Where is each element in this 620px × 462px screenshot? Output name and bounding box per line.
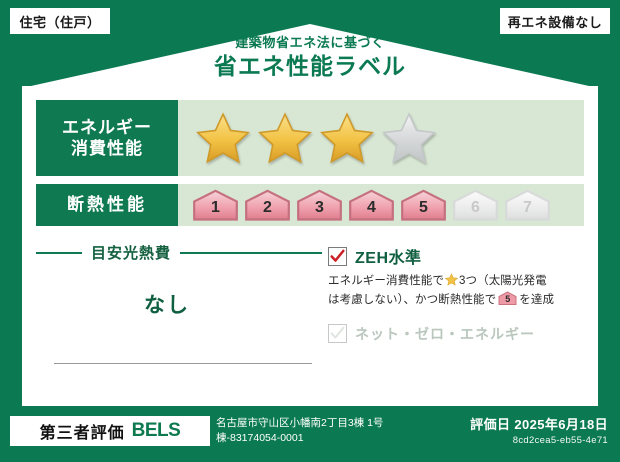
insulation-level-6: 6 <box>452 189 499 221</box>
insulation-level-4: 4 <box>348 189 395 221</box>
energy-performance-value <box>178 100 584 176</box>
star-filled-icon <box>196 111 250 165</box>
bels-jp-label: 第三者評価 <box>40 419 125 443</box>
utility-cost-section: 目安光熱費 なし <box>36 236 328 392</box>
nze-checkbox[interactable] <box>328 324 347 343</box>
utility-cost-label: 目安光熱費 <box>91 242 171 263</box>
insulation-level-scale: 1234567 <box>192 189 551 221</box>
label-footer: 第三者評価 BELS 名古屋市守山区小幡南2丁目3棟 1号棟-83174054-… <box>0 408 620 462</box>
zeh-checkbox[interactable] <box>328 247 347 266</box>
insulation-level-5: 5 <box>400 189 447 221</box>
zeh-section: ZEH水準 エネルギー消費性能で 3つ（太陽光発電 は考慮しない）、かつ断熱性能… <box>328 236 584 392</box>
insulation-level-1: 1 <box>192 189 239 221</box>
nze-checkbox-row[interactable]: ネット・ゼロ・エネルギー <box>328 324 584 344</box>
inline-star-icon <box>445 273 458 286</box>
zeh-desc-part-b: は考慮しない）、かつ断熱性能で <box>328 294 496 306</box>
insulation-performance-value: 1234567 <box>178 184 584 226</box>
insulation-level-number: 4 <box>367 200 376 221</box>
energy-performance-label: 住宅（住戸） 再エネ設備なし 建築物省エネ法に基づく 省エネ性能ラベル エネルギ… <box>0 0 620 462</box>
insulation-level-number: 5 <box>419 200 428 221</box>
insulation-level-number: 6 <box>471 200 480 221</box>
insulation-level-7: 7 <box>504 189 551 221</box>
zeh-desc-star-count: 3つ（太陽光発電 <box>459 275 547 287</box>
zeh-desc-part-a: エネルギー消費性能で <box>328 275 444 287</box>
check-icon-disabled <box>329 325 346 342</box>
insulation-level-number: 7 <box>523 200 532 221</box>
evaluation-id: 8cd2cea5-eb55-4e71 <box>470 435 608 446</box>
energy-key-line1: エネルギー <box>62 117 152 138</box>
star-filled-icon <box>320 111 374 165</box>
insulation-level-number: 2 <box>263 200 272 221</box>
property-address: 名古屋市守山区小幡南2丁目3棟 1号棟-83174054-0001 <box>216 416 431 446</box>
insulation-performance-row: 断熱性能 1234567 <box>36 184 584 226</box>
bels-badge: 第三者評価 BELS <box>10 416 210 446</box>
evaluation-date: 評価日 2025年6月18日 <box>470 414 608 433</box>
check-icon <box>329 248 346 265</box>
label-card: エネルギー 消費性能 断熱性能 1234567 目安光熱費 なし <box>22 86 598 406</box>
building-type-tag: 住宅（住戸） <box>10 8 110 34</box>
zeh-description: エネルギー消費性能で 3つ（太陽光発電 は考慮しない）、かつ断熱性能で 5 を達… <box>328 273 584 310</box>
star-filled-icon <box>258 111 312 165</box>
cost-rule-right <box>180 252 322 254</box>
bels-en-label: BELS <box>132 420 181 442</box>
renewable-equipment-tag: 再エネ設備なし <box>500 8 610 34</box>
insulation-level-3: 3 <box>296 189 343 221</box>
energy-performance-key: エネルギー 消費性能 <box>36 100 178 176</box>
footer-divider-rule <box>54 363 312 364</box>
zeh-desc-part-c: を達成 <box>519 294 554 306</box>
utility-cost-value: なし <box>36 289 328 319</box>
inline-house-level: 5 <box>498 291 517 305</box>
cost-rule-left <box>36 252 82 254</box>
energy-performance-row: エネルギー 消費性能 <box>36 100 584 176</box>
insulation-level-2: 2 <box>244 189 291 221</box>
insulation-level-number: 1 <box>211 200 220 221</box>
zeh-label: ZEH水準 <box>355 244 422 268</box>
inline-house-icon: 5 <box>498 291 517 305</box>
insulation-level-number: 3 <box>315 200 324 221</box>
energy-key-line2: 消費性能 <box>71 138 143 159</box>
insulation-performance-key: 断熱性能 <box>36 184 178 226</box>
zeh-checkbox-row[interactable]: ZEH水準 <box>328 244 584 268</box>
evaluation-info: 評価日 2025年6月18日 8cd2cea5-eb55-4e71 <box>470 414 608 446</box>
lower-section: 目安光熱費 なし ZEH水準 エネルギー消費性能で <box>36 236 584 392</box>
star-empty-icon <box>382 111 436 165</box>
star-rating <box>196 111 436 165</box>
utility-cost-heading: 目安光熱費 <box>36 242 328 263</box>
nze-label: ネット・ゼロ・エネルギー <box>355 324 535 344</box>
